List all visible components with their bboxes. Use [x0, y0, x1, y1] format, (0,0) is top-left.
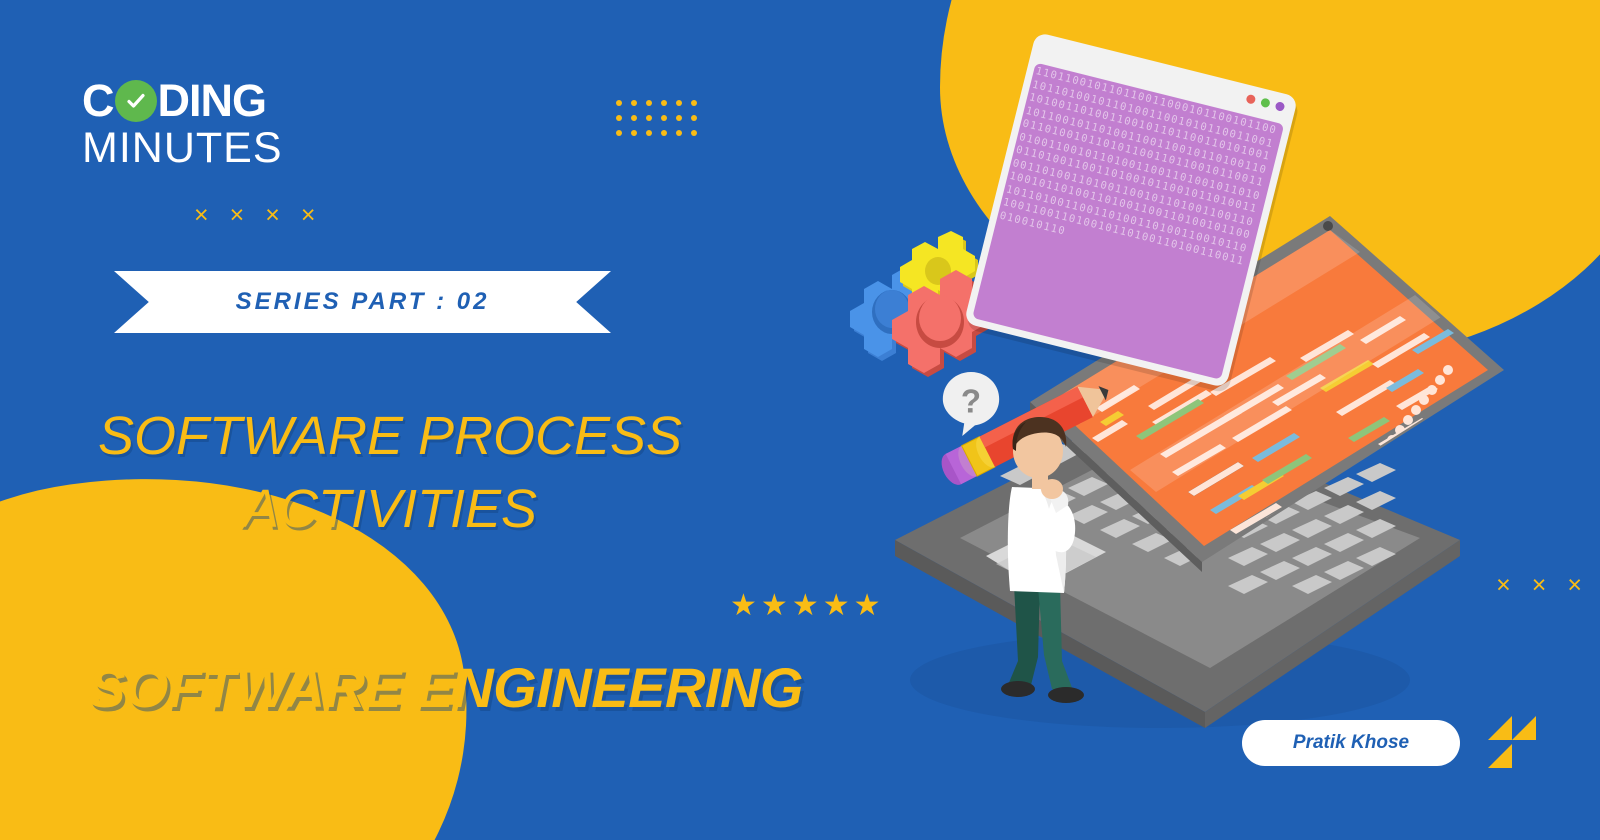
- x-icon: ×: [301, 203, 316, 228]
- x-icon: ×: [1532, 573, 1547, 598]
- grid-dot: [646, 130, 652, 136]
- author-badge[interactable]: Pratik Khose: [1242, 720, 1460, 766]
- grid-dot: [616, 115, 622, 121]
- star-icon: ★: [761, 591, 788, 621]
- grid-dot: [676, 100, 682, 106]
- grid-dot: [676, 130, 682, 136]
- close-dot-icon[interactable]: [1245, 94, 1256, 105]
- star-rating: ★ ★ ★ ★ ★: [730, 591, 881, 621]
- x-marks-decoration-right: × × ×: [1496, 573, 1582, 598]
- grid-dot: [616, 100, 622, 106]
- grid-dot: [631, 130, 637, 136]
- x-icon: ×: [265, 203, 280, 228]
- grid-dot: [661, 115, 667, 121]
- dot-grid-decoration: [616, 100, 706, 145]
- maximize-dot-icon[interactable]: [1275, 101, 1286, 112]
- series-part-ribbon: SERIES PART : 02: [114, 271, 611, 333]
- browser-traffic-light-dots: [1245, 94, 1285, 112]
- minimize-dot-icon[interactable]: [1260, 97, 1271, 108]
- logo-line-coding: C DING: [82, 78, 342, 123]
- series-part-label: SERIES PART : 02: [236, 288, 490, 316]
- grid-dot: [691, 130, 697, 136]
- grid-dot: [691, 115, 697, 121]
- x-icon: ×: [1567, 573, 1582, 598]
- logo-letters-ding: DING: [158, 78, 267, 123]
- logo-line-minutes: MINUTES: [82, 125, 342, 172]
- coding-minutes-logo[interactable]: C DING MINUTES: [82, 78, 342, 172]
- star-icon: ★: [792, 591, 819, 621]
- check-icon: [115, 80, 157, 122]
- grid-dot: [661, 100, 667, 106]
- page-title: SOFTWARE PROCESS ACTIVITIES: [60, 400, 720, 546]
- author-name: Pratik Khose: [1293, 732, 1409, 754]
- poster-canvas: ?: [0, 0, 1600, 840]
- x-marks-decoration-left: × × × ×: [194, 203, 315, 228]
- logo-letter-c: C: [82, 78, 114, 123]
- isometric-developer-illustration: ?: [800, 40, 1520, 770]
- x-icon: ×: [194, 203, 209, 228]
- grid-dot: [676, 115, 682, 121]
- star-icon: ★: [823, 591, 850, 621]
- star-icon: ★: [854, 591, 881, 621]
- x-icon: ×: [230, 203, 245, 228]
- grid-dot: [631, 115, 637, 121]
- pinwheel-triangles-icon: [1486, 714, 1538, 770]
- star-icon: ★: [730, 591, 757, 621]
- grid-dot: [646, 100, 652, 106]
- grid-dot: [691, 100, 697, 106]
- grid-dot: [661, 130, 667, 136]
- grid-dot: [631, 100, 637, 106]
- subject-title: SOFTWARE ENGINEERING: [88, 655, 803, 720]
- grid-dot: [646, 115, 652, 121]
- grid-dot: [616, 130, 622, 136]
- person-figure: [978, 405, 1098, 715]
- x-icon: ×: [1496, 573, 1511, 598]
